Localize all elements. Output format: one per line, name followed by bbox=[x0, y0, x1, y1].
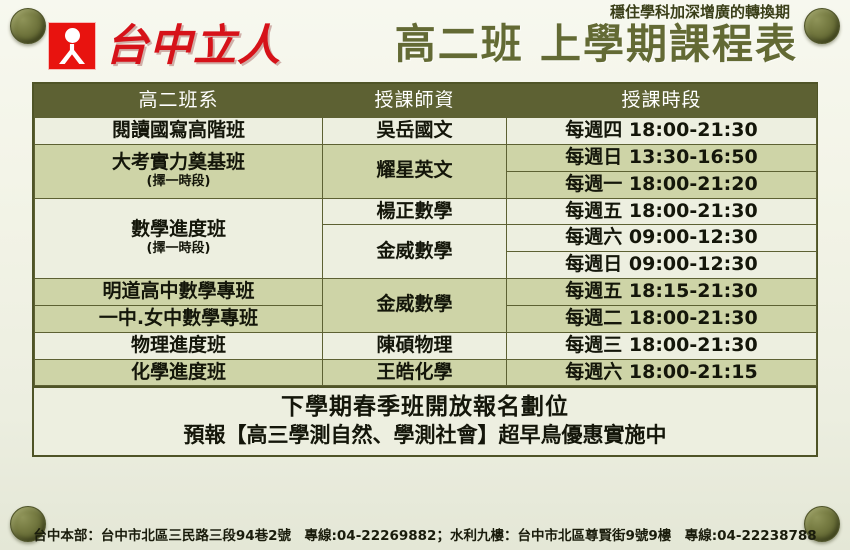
cell-course: 閱讀國寫高階班 bbox=[35, 118, 323, 145]
address-bar: 台中本部：台中市北區三民路三段94巷2號 專線:04-22269882；水利九樓… bbox=[0, 518, 850, 550]
table-row: 大考實力奠基班 (擇一時段) 耀星英文 每週日 13:30-16:50 bbox=[35, 144, 817, 171]
cell-teacher: 耀星英文 bbox=[323, 144, 507, 198]
cell-slot: 每週五 18:00-21:30 bbox=[507, 198, 817, 225]
table-row: 物理進度班 陳碩物理 每週三 18:00-21:30 bbox=[35, 332, 817, 359]
address-text: 台中本部：台中市北區三民路三段94巷2號 專線:04-22269882；水利九樓… bbox=[33, 524, 816, 544]
cell-course: 數學進度班 (擇一時段) bbox=[35, 198, 323, 279]
cell-slot: 每週五 18:15-21:30 bbox=[507, 279, 817, 306]
page-header: 台中立人 穩住學科加深增廣的轉換期 高二班 上學期課程表 bbox=[0, 0, 850, 82]
cell-teacher: 陳碩物理 bbox=[323, 332, 507, 359]
person-icon-head bbox=[65, 28, 80, 43]
cell-teacher: 吳岳國文 bbox=[323, 118, 507, 145]
brand-logo: 台中立人 bbox=[48, 22, 281, 70]
cell-slot: 每週四 18:00-21:30 bbox=[507, 118, 817, 145]
cell-course: 物理進度班 bbox=[35, 332, 323, 359]
cell-course-note: (擇一時段) bbox=[39, 242, 318, 257]
column-header-course: 高二班系 bbox=[35, 85, 323, 118]
table-row: 數學進度班 (擇一時段) 楊正數學 每週五 18:00-21:30 bbox=[35, 198, 817, 225]
title-block: 穩住學科加深增廣的轉換期 高二班 上學期課程表 bbox=[328, 4, 798, 67]
page-subtitle: 穩住學科加深增廣的轉換期 bbox=[328, 4, 798, 21]
person-icon bbox=[48, 22, 96, 70]
cell-course: 一中.女中數學專班 bbox=[35, 305, 323, 332]
cell-slot: 每週日 13:30-16:50 bbox=[507, 144, 817, 171]
schedule-sheet: 高二班系 授課師資 授課時段 閱讀國寫高階班 吳岳國文 每週四 18:00-21… bbox=[32, 82, 818, 457]
table-row: 閱讀國寫高階班 吳岳國文 每週四 18:00-21:30 bbox=[35, 118, 817, 145]
cell-teacher: 楊正數學 bbox=[323, 198, 507, 225]
promo-banner: 下學期春季班開放報名劃位 預報【高三學測自然、學測社會】超早鳥優惠實施中 bbox=[34, 386, 816, 455]
cell-course: 化學進度班 bbox=[35, 359, 323, 386]
cell-course: 大考實力奠基班 (擇一時段) bbox=[35, 144, 323, 198]
cell-teacher: 王皓化學 bbox=[323, 359, 507, 386]
cell-teacher: 金威數學 bbox=[323, 225, 507, 279]
cell-teacher: 金威數學 bbox=[323, 279, 507, 333]
cell-slot: 每週一 18:00-21:20 bbox=[507, 171, 817, 198]
cell-course: 明道高中數學專班 bbox=[35, 279, 323, 306]
brand-name: 台中立人 bbox=[105, 25, 281, 68]
page-title: 高二班 上學期課程表 bbox=[328, 22, 798, 67]
person-icon-body bbox=[59, 44, 85, 64]
cell-slot: 每週六 09:00-12:30 bbox=[507, 225, 817, 252]
cell-slot: 每週三 18:00-21:30 bbox=[507, 332, 817, 359]
table-header-row: 高二班系 授課師資 授課時段 bbox=[35, 85, 817, 118]
cell-slot: 每週六 18:00-21:15 bbox=[507, 359, 817, 386]
promo-headline: 下學期春季班開放報名劃位 bbox=[34, 393, 816, 422]
table-row: 明道高中數學專班 金威數學 每週五 18:15-21:30 bbox=[35, 279, 817, 306]
cell-course-title: 數學進度班 bbox=[131, 218, 226, 240]
cell-slot: 每週二 18:00-21:30 bbox=[507, 305, 817, 332]
table-row: 化學進度班 王皓化學 每週六 18:00-21:15 bbox=[35, 359, 817, 386]
column-header-teacher: 授課師資 bbox=[323, 85, 507, 118]
schedule-table: 高二班系 授課師資 授課時段 閱讀國寫高階班 吳岳國文 每週四 18:00-21… bbox=[34, 84, 817, 386]
cell-course-note: (擇一時段) bbox=[39, 175, 318, 190]
cell-slot: 每週日 09:00-12:30 bbox=[507, 252, 817, 279]
cell-course-title: 大考實力奠基班 bbox=[112, 151, 245, 173]
column-header-slot: 授課時段 bbox=[507, 85, 817, 118]
promo-subline: 預報【高三學測自然、學測社會】超早鳥優惠實施中 bbox=[34, 422, 816, 448]
